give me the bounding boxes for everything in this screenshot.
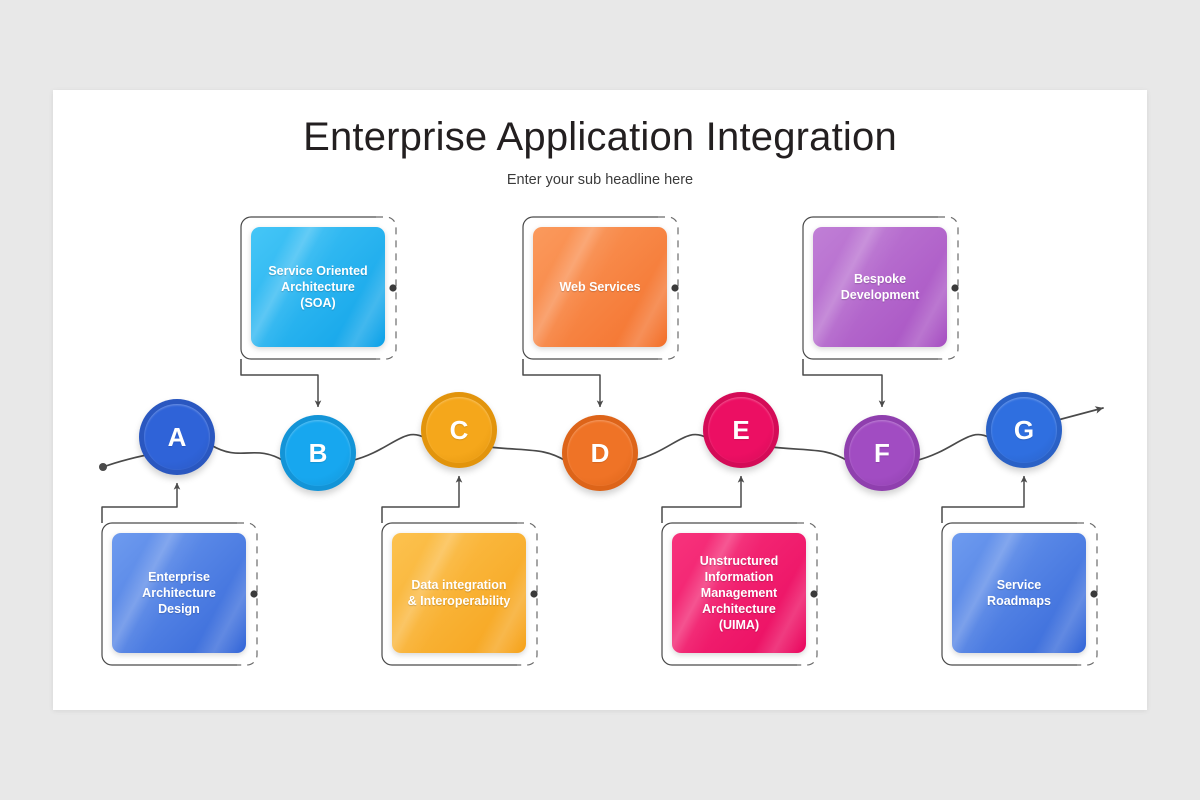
card-label: Service OrientedArchitecture(SOA): [260, 263, 375, 311]
card-label: Data integration& Interoperability: [400, 577, 519, 609]
top-card-1[interactable]: Service OrientedArchitecture(SOA): [251, 227, 385, 347]
process-node-e[interactable]: E: [703, 392, 779, 468]
bottom-card-1[interactable]: EnterpriseArchitectureDesign: [112, 533, 246, 653]
page-title: Enterprise Application Integration: [53, 115, 1147, 160]
page-subtitle: Enter your sub headline here: [53, 172, 1147, 188]
node-label: G: [1014, 417, 1034, 443]
process-node-b[interactable]: B: [280, 415, 356, 491]
node-label: D: [591, 440, 610, 466]
card-label: ServiceRoadmaps: [979, 577, 1059, 609]
card-label: EnterpriseArchitectureDesign: [134, 569, 224, 617]
node-label: C: [450, 417, 469, 443]
node-label: B: [309, 440, 328, 466]
card-label: UnstructuredInformationManagementArchite…: [692, 553, 786, 633]
node-label: A: [168, 424, 187, 450]
card-label: BespokeDevelopment: [833, 271, 928, 303]
process-node-c[interactable]: C: [421, 392, 497, 468]
top-card-3[interactable]: BespokeDevelopment: [813, 227, 947, 347]
node-label: E: [732, 417, 749, 443]
top-card-2[interactable]: Web Services: [533, 227, 667, 347]
process-node-g[interactable]: G: [986, 392, 1062, 468]
node-label: F: [874, 440, 890, 466]
bottom-card-3[interactable]: UnstructuredInformationManagementArchite…: [672, 533, 806, 653]
process-node-f[interactable]: F: [844, 415, 920, 491]
bottom-card-4[interactable]: ServiceRoadmaps: [952, 533, 1086, 653]
bottom-card-2[interactable]: Data integration& Interoperability: [392, 533, 526, 653]
card-label: Web Services: [551, 279, 648, 295]
process-node-d[interactable]: D: [562, 415, 638, 491]
process-node-a[interactable]: A: [139, 399, 215, 475]
